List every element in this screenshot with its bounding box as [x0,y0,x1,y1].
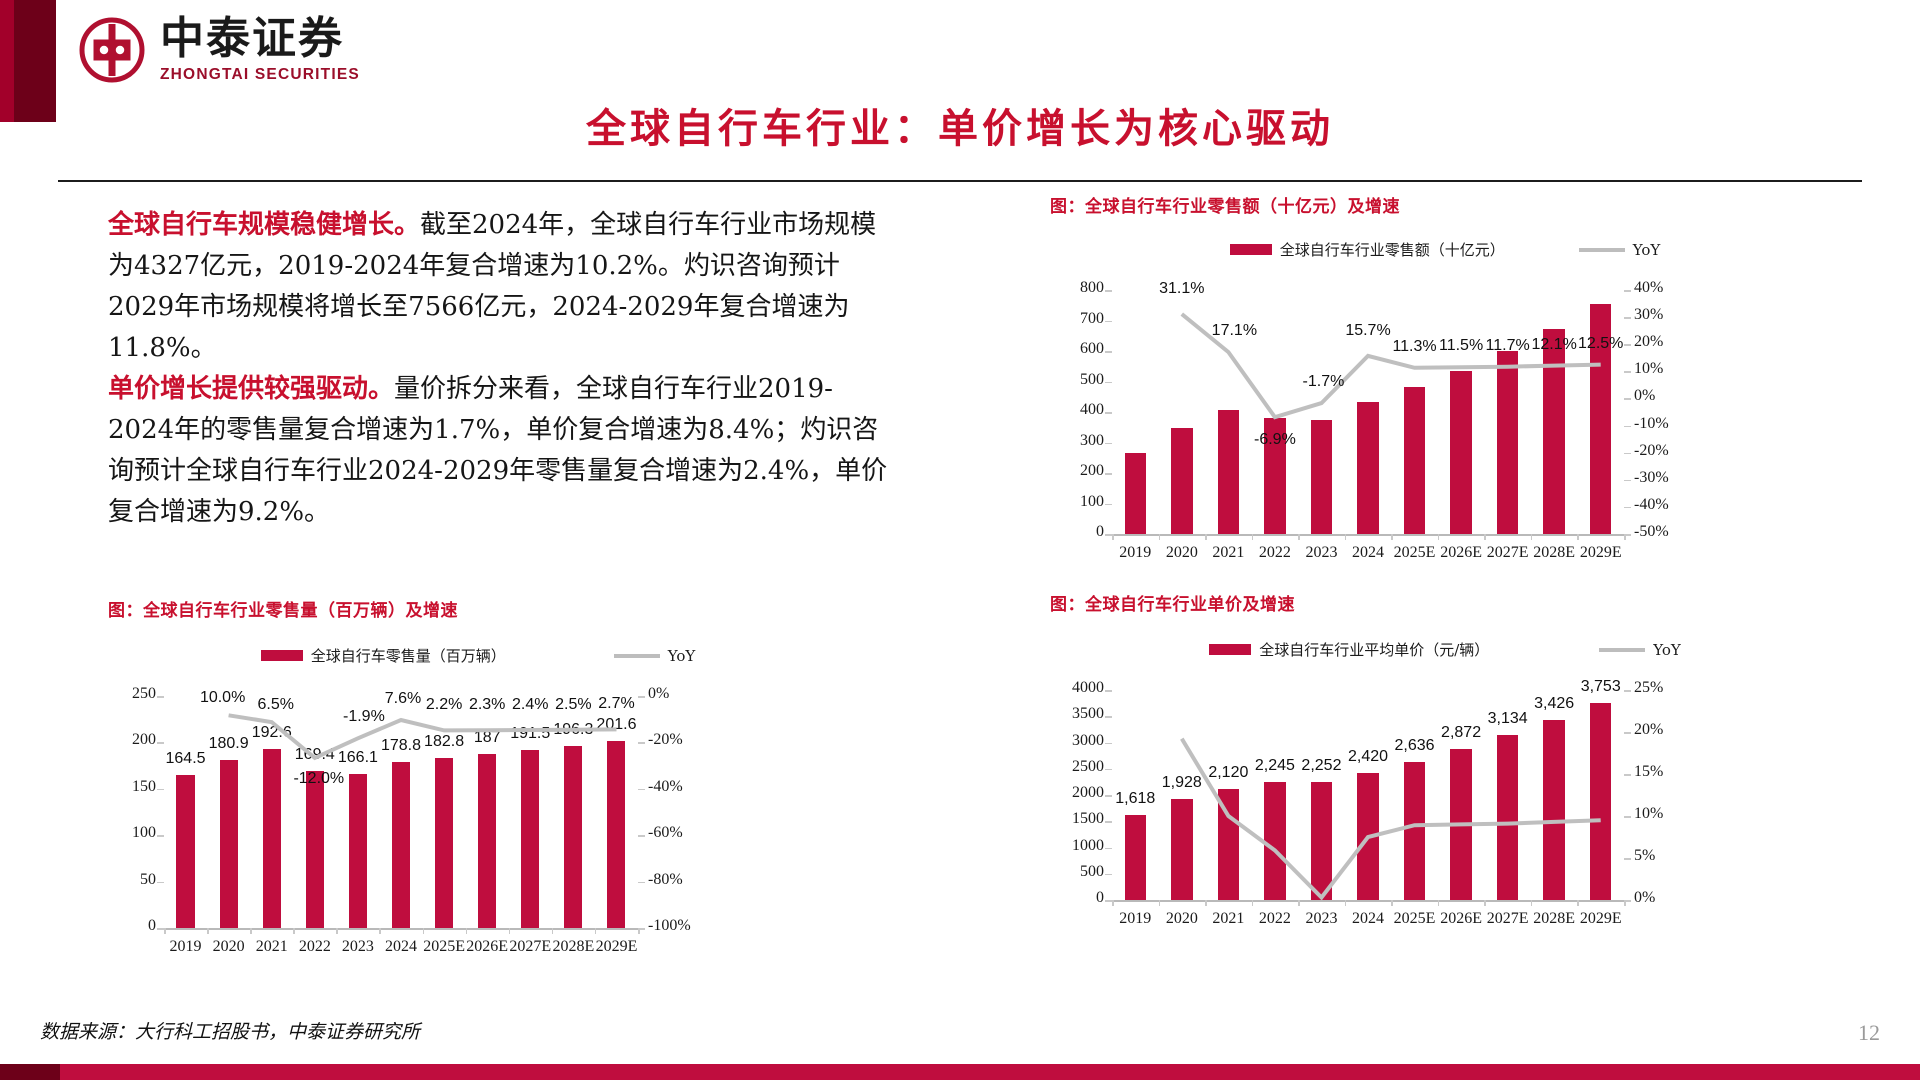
paragraph-1: 全球自行车规模稳健增长。截至2024年，全球自行车行业市场规模为4327亿元，2… [108,205,898,369]
y2-axis-tick [1624,453,1631,455]
bar [1404,762,1425,900]
x-axis-tick [1391,900,1393,906]
y2-axis-label: -30% [1634,469,1690,487]
y2-axis-label: -100% [648,917,704,935]
y-axis-label: 150 [102,778,156,796]
legend-label-line: YoY [1633,241,1661,259]
y2-axis-label: -40% [1634,496,1690,514]
y-axis-tick [1105,321,1112,323]
x-axis-tick [595,928,597,934]
y-axis-label: 0 [102,917,156,935]
bar [220,760,238,928]
page-title: 全球自行车行业：单价增长为核心驱动 [0,96,1920,154]
bar-value-label: 201.6 [570,716,662,734]
y-axis-label: 1500 [1050,810,1104,828]
chart-title-retail-volume: 图：全球自行车行业零售量（百万辆）及增速 [108,596,848,621]
y-axis-tick [1105,743,1112,745]
x-axis-tick [1159,900,1161,906]
y2-axis-tick [638,835,645,837]
chart-legend-retail-volume: 全球自行车零售量（百万辆） YoY [108,645,848,666]
bar-value-label: 192.6 [226,724,318,742]
bar [176,775,194,928]
x-axis-tick [1345,534,1347,540]
plot-area-unit-price: 4000350030002500200015001000500025%20%15… [1050,674,1690,942]
title-divider [58,180,1862,182]
y2-axis-tick [638,742,645,744]
page-number: 12 [1858,1020,1880,1046]
y-axis-tick [157,742,164,744]
x-axis-tick [552,928,554,934]
y2-axis-label: 0% [1634,387,1690,405]
bar [1450,371,1471,534]
bar-value-label: 3,134 [1462,710,1554,728]
y2-axis-tick [1624,480,1631,482]
y-axis-tick [157,928,164,930]
y2-axis-label: -20% [648,731,704,749]
y-axis-tick [1105,382,1112,384]
bar-value-label: 3,753 [1555,678,1647,696]
chart-unit-price: 图：全球自行车行业单价及增速 全球自行车行业平均单价（元/辆） YoY 4000… [1050,590,1840,942]
x-axis-tick [336,928,338,934]
legend-item-line: YoY [1599,641,1681,659]
legend-item-bar: 全球自行车零售量（百万辆） [261,645,506,666]
chart-retail-volume: 图：全球自行车行业零售量（百万辆）及增速 全球自行车零售量（百万辆） YoY 2… [108,596,848,970]
x-axis-tick [1438,534,1440,540]
x-axis-label: 2029E [1559,910,1643,928]
x-axis-label: 2029E [574,938,658,956]
bar [1311,782,1332,900]
y2-axis-label: -80% [648,871,704,889]
y2-axis-label: -60% [648,824,704,842]
bar-value-label: 3,426 [1508,695,1600,713]
y2-axis-label: -20% [1634,442,1690,460]
x-axis-tick [1391,534,1393,540]
legend-swatch-line-icon [1599,648,1645,652]
x-axis-tick [250,928,252,934]
y2-axis-tick [1624,732,1631,734]
x-axis-line [164,928,638,930]
y-axis-tick [157,835,164,837]
x-axis-tick [1345,900,1347,906]
y2-axis-label: 10% [1634,805,1690,823]
y-axis-label: 1000 [1050,837,1104,855]
zhongtai-logo-icon [78,16,146,84]
y-axis-label: 700 [1050,310,1104,328]
bar [1497,351,1518,534]
y-axis-tick [1105,504,1112,506]
y-axis-tick [1105,443,1112,445]
y2-axis-label: 30% [1634,306,1690,324]
y-axis-tick [157,882,164,884]
legend-item-line: YoY [614,647,696,665]
y-axis-label: 0 [1050,889,1104,907]
x-axis-line [1112,900,1624,902]
y2-axis-label: 10% [1634,360,1690,378]
legend-item-line: YoY [1579,241,1661,259]
bar [1125,453,1146,534]
bar [435,758,453,928]
bar [564,746,582,928]
x-axis-tick [164,928,166,934]
y-axis-label: 100 [1050,493,1104,511]
legend-swatch-bar-icon [261,650,303,661]
y-axis-tick [1105,290,1112,292]
legend-label-bar: 全球自行车零售量（百万辆） [311,645,506,666]
source-note: 数据来源：大行科工招股书，中泰证券研究所 [40,1017,420,1044]
y2-axis-tick [1624,317,1631,319]
paragraph-2-lead: 单价增长提供较强驱动。 [108,374,394,404]
y-axis-tick [1105,534,1112,536]
yoy-value-label: -12.0% [273,770,365,788]
y-axis-label: 800 [1050,279,1104,297]
y-axis-tick [1105,821,1112,823]
x-axis-tick [1298,900,1300,906]
chart-legend-retail-value: 全球自行车行业零售额（十亿元） YoY [1050,239,1840,260]
y-axis-label: 400 [1050,401,1104,419]
y2-axis-label: 5% [1634,847,1690,865]
x-axis-label: 2029E [1559,544,1643,562]
y2-axis-label: -40% [648,778,704,796]
bar [521,750,539,928]
y2-axis-tick [638,789,645,791]
legend-swatch-line-icon [1579,248,1625,252]
y2-axis-tick [1624,774,1631,776]
y-axis-label: 3500 [1050,705,1104,723]
x-axis-tick [509,928,511,934]
y-axis-tick [1105,716,1112,718]
x-axis-tick [1484,534,1486,540]
legend-label-line: YoY [668,647,696,665]
body-copy: 全球自行车规模稳健增长。截至2024年，全球自行车行业市场规模为4327亿元，2… [108,205,898,533]
paragraph-1-lead: 全球自行车规模稳健增长。 [108,210,420,240]
bar-value-label: 1,618 [1089,790,1181,808]
x-axis-tick [423,928,425,934]
y-axis-tick [1105,412,1112,414]
bar [1543,720,1564,900]
brand-name-cn: 中泰证券 [160,17,360,61]
footer-accent-bar-dark [0,1064,60,1080]
x-axis-tick [1298,534,1300,540]
y2-axis-label: 0% [1634,889,1690,907]
x-axis-tick [1159,534,1161,540]
x-axis-tick [293,928,295,934]
plot-area-retail-value: 800700600500400300200100040%30%20%10%0%-… [1050,276,1690,576]
bar [1171,428,1192,534]
y-axis-tick [1105,351,1112,353]
y-axis-tick [1105,848,1112,850]
yoy-value-label: 17.1% [1188,322,1280,340]
y2-axis-tick [1624,507,1631,509]
y-axis-label: 500 [1050,863,1104,881]
y2-axis-label: -50% [1634,523,1690,541]
x-axis-tick [1531,900,1533,906]
y2-axis-tick [1624,398,1631,400]
y-axis-label: 3000 [1050,732,1104,750]
legend-label-line: YoY [1653,641,1681,659]
y-axis-label: 50 [102,871,156,889]
y2-axis-label: -10% [1634,415,1690,433]
x-axis-tick [207,928,209,934]
chart-title-unit-price: 图：全球自行车行业单价及增速 [1050,590,1840,615]
y2-axis-tick [638,882,645,884]
legend-swatch-bar-icon [1230,244,1272,255]
y2-axis-tick [1624,426,1631,428]
bar [306,771,324,928]
y-axis-label: 250 [102,685,156,703]
legend-item-bar: 全球自行车行业平均单价（元/辆） [1209,639,1489,660]
y-axis-label: 2500 [1050,758,1104,776]
x-axis-line [1112,534,1624,536]
y-axis-label: 600 [1050,340,1104,358]
x-axis-tick [1112,534,1114,540]
bar [1218,410,1239,534]
x-axis-tick [379,928,381,934]
paragraph-2: 单价增长提供较强驱动。量价拆分来看，全球自行车行业2019-2024年的零售量复… [108,369,898,533]
bar [1171,799,1192,900]
x-axis-tick [638,928,640,934]
bar [392,762,410,928]
bar [1497,735,1518,900]
bar [1264,782,1285,900]
y2-axis-label: 40% [1634,279,1690,297]
y-axis-label: 0 [1050,523,1104,541]
y2-axis-label: 20% [1634,721,1690,739]
y-axis-tick [157,789,164,791]
chart-retail-value: 图：全球自行车行业零售额（十亿元）及增速 全球自行车行业零售额（十亿元） YoY… [1050,192,1840,576]
x-axis-tick [1205,534,1207,540]
x-axis-tick [1624,534,1626,540]
x-axis-tick [1484,900,1486,906]
x-axis-tick [1577,534,1579,540]
y-axis-tick [1105,900,1112,902]
y-axis-tick [1105,874,1112,876]
x-axis-tick [1438,900,1440,906]
y2-axis-label: 15% [1634,763,1690,781]
legend-label-bar: 全球自行车行业平均单价（元/辆） [1259,639,1489,660]
bar [1404,387,1425,534]
x-axis-tick [1624,900,1626,906]
y-axis-label: 500 [1050,371,1104,389]
bar [349,774,367,928]
y2-axis-tick [1624,371,1631,373]
legend-swatch-bar-icon [1209,644,1251,655]
yoy-value-label: -6.9% [1229,431,1321,449]
legend-label-bar: 全球自行车行业零售额（十亿元） [1280,239,1505,260]
bar [1590,703,1611,900]
plot-area-retail-volume: 2502001501005000%-20%-40%-60%-80%-100%20… [108,680,708,970]
y-axis-tick [1105,690,1112,692]
y-axis-label: 200 [1050,462,1104,480]
y-axis-label: 4000 [1050,679,1104,697]
yoy-value-label: 31.1% [1136,280,1228,298]
bar [1218,789,1239,900]
footer-accent-bar [0,1064,1920,1080]
brand-logo: 中泰证券 ZHONGTAI SECURITIES [78,16,360,84]
y2-axis-tick [1624,858,1631,860]
y-axis-tick [1105,473,1112,475]
bar [607,741,625,928]
x-axis-tick [1252,534,1254,540]
y-axis-label: 100 [102,824,156,842]
y-axis-label: 200 [102,731,156,749]
yoy-value-label: 6.5% [230,696,322,714]
x-axis-tick [1577,900,1579,906]
y-axis-label: 300 [1050,432,1104,450]
bar [1543,329,1564,534]
bar [478,754,496,928]
y-axis-tick [1105,769,1112,771]
legend-item-bar: 全球自行车行业零售额（十亿元） [1230,239,1505,260]
legend-swatch-line-icon [614,654,660,658]
x-axis-tick [1205,900,1207,906]
bar [1450,749,1471,900]
x-axis-tick [1531,534,1533,540]
x-axis-tick [466,928,468,934]
y2-axis-tick [1624,290,1631,292]
bar [1357,773,1378,900]
brand-name-en: ZHONGTAI SECURITIES [160,67,360,83]
bar [1125,815,1146,900]
chart-legend-unit-price: 全球自行车行业平均单价（元/辆） YoY [1050,639,1840,660]
slide: 中泰证券 ZHONGTAI SECURITIES 全球自行车行业：单价增长为核心… [0,0,1920,1080]
chart-title-retail-value: 图：全球自行车行业零售额（十亿元）及增速 [1050,192,1840,217]
y2-axis-tick [1624,816,1631,818]
y-axis-tick [157,696,164,698]
yoy-value-label: -1.9% [318,708,410,726]
x-axis-tick [1252,900,1254,906]
bar [1357,402,1378,534]
yoy-value-label: 12.5% [1555,335,1647,353]
yoy-value-label: 2.7% [570,695,662,713]
x-axis-tick [1112,900,1114,906]
yoy-value-label: -1.7% [1277,373,1369,391]
